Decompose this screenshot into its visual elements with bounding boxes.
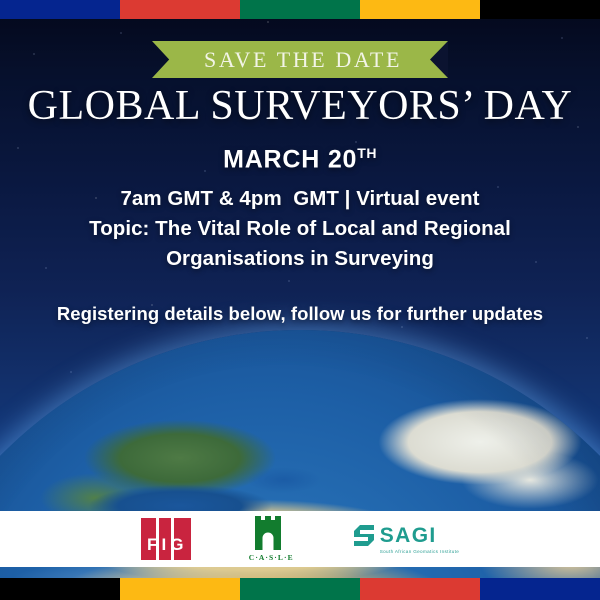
event-details: 7am GMT & 4pm GMT | Virtual event Topic:… [0,184,600,274]
casle-logo-text: C·A·S·L·E [249,553,294,562]
event-date-main: MARCH 20 [223,145,357,173]
register-note: Registering details below, follow us for… [0,303,600,325]
top-color-bar [0,0,600,19]
top-bar-segment-red [120,0,240,19]
top-bar-segment-yellow [360,0,480,19]
sagi-logo: SAGI South African Geomatics Institute [352,523,459,555]
page-title: GLOBAL SURVEYORS’ DAY [0,84,600,129]
sagi-s-mark-icon [352,523,377,555]
bottom-bar-segment-black [0,578,120,600]
event-detail-line: Topic: The Vital Role of Local and Regio… [0,214,600,244]
bottom-bar-segment-green [240,578,360,600]
event-detail-line: Organisations in Surveying [0,244,600,274]
sagi-logo-text: SAGI [380,525,459,546]
save-the-date-ribbon: SAVE THE DATE [152,41,448,78]
bottom-bar-segment-blue [480,578,600,600]
event-detail-line: 7am GMT & 4pm GMT | Virtual event [0,184,600,214]
top-bar-segment-blue [0,0,120,19]
event-date-ordinal: TH [357,145,377,161]
top-bar-segment-black [480,0,600,19]
fig-logo: FIG [141,518,191,560]
sagi-logo-inner: SAGI South African Geomatics Institute [352,523,459,555]
bottom-color-bar [0,578,600,600]
top-bar-segment-green [240,0,360,19]
sagi-text-block: SAGI South African Geomatics Institute [380,525,459,554]
sponsor-logo-bar: FIG C·A·S·L·E SAGI South African Geomati… [0,511,600,567]
fig-logo-mark: FIG [141,518,191,560]
ribbon-label: SAVE THE DATE [198,49,402,71]
castle-tower-icon [251,516,291,550]
bottom-bar-segment-red [360,578,480,600]
casle-logo: C·A·S·L·E [249,516,294,562]
bottom-bar-segment-yellow [120,578,240,600]
fig-logo-text: FIG [144,536,188,560]
save-the-date-poster: SAVE THE DATE GLOBAL SURVEYORS’ DAY MARC… [0,0,600,600]
sagi-tagline: South African Geomatics Institute [380,549,459,554]
event-date: MARCH 20TH [0,145,600,174]
